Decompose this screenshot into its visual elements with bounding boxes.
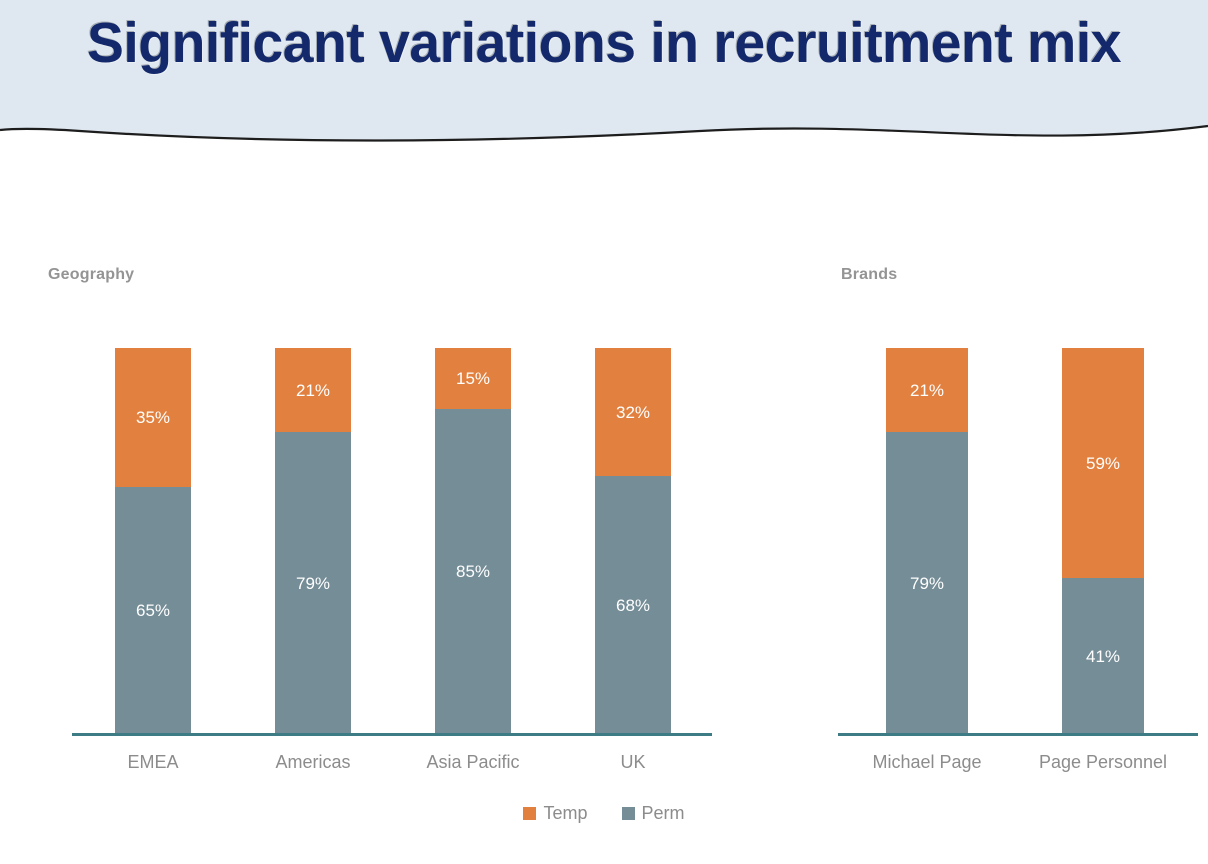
panel-title-geography: Geography: [48, 266, 134, 284]
bar-value-perm: 79%: [910, 575, 944, 592]
stacked-bar[interactable]: 35%65%: [115, 348, 191, 734]
panel-title-brands: Brands: [841, 266, 897, 284]
square-icon-perm: [622, 807, 635, 820]
bar-segment-temp[interactable]: 15%: [435, 348, 511, 409]
bar-segment-temp[interactable]: 21%: [275, 348, 351, 432]
bar-value-perm: 41%: [1086, 648, 1120, 665]
square-icon-temp: [523, 807, 536, 820]
bar-segment-perm[interactable]: 85%: [435, 409, 511, 734]
bar-segment-perm[interactable]: 79%: [275, 432, 351, 734]
legend-label-temp: Temp: [543, 803, 587, 824]
bar-value-perm: 65%: [136, 602, 170, 619]
bar-value-perm: 85%: [456, 563, 490, 580]
bar-segment-temp[interactable]: 21%: [886, 348, 968, 432]
page-title: Significant variations in recruitment mi…: [18, 10, 1190, 76]
bar-segment-temp[interactable]: 35%: [115, 348, 191, 487]
bar-value-temp: 35%: [136, 409, 170, 426]
brands-axis-line: [838, 733, 1198, 736]
stacked-bar[interactable]: 21%79%: [886, 348, 968, 734]
category-label: Page Personnel: [993, 752, 1208, 773]
bar-segment-temp[interactable]: 32%: [595, 348, 671, 476]
stacked-bar[interactable]: 32%68%: [595, 348, 671, 734]
stacked-bar[interactable]: 15%85%: [435, 348, 511, 734]
bar-value-temp: 15%: [456, 370, 490, 387]
bar-value-perm: 68%: [616, 597, 650, 614]
stacked-bar[interactable]: 21%79%: [275, 348, 351, 734]
legend-item-perm[interactable]: Perm: [622, 803, 685, 824]
header-band: Significant variations in recruitment mi…: [0, 0, 1208, 152]
legend-item-temp[interactable]: Temp: [523, 803, 587, 824]
stacked-bar[interactable]: 59%41%: [1062, 348, 1144, 734]
bar-value-perm: 79%: [296, 575, 330, 592]
legend-label-perm: Perm: [642, 803, 685, 824]
bar-segment-perm[interactable]: 65%: [115, 487, 191, 734]
chart-legend: Temp Perm: [0, 803, 1208, 824]
bar-segment-perm[interactable]: 79%: [886, 432, 968, 734]
bar-segment-temp[interactable]: 59%: [1062, 348, 1144, 578]
bar-value-temp: 32%: [616, 404, 650, 421]
category-label: UK: [523, 752, 743, 773]
geography-axis-line: [72, 733, 712, 736]
bar-segment-perm[interactable]: 41%: [1062, 578, 1144, 734]
bar-value-temp: 59%: [1086, 455, 1120, 472]
bar-segment-perm[interactable]: 68%: [595, 476, 671, 734]
bar-value-temp: 21%: [910, 382, 944, 399]
bar-value-temp: 21%: [296, 382, 330, 399]
